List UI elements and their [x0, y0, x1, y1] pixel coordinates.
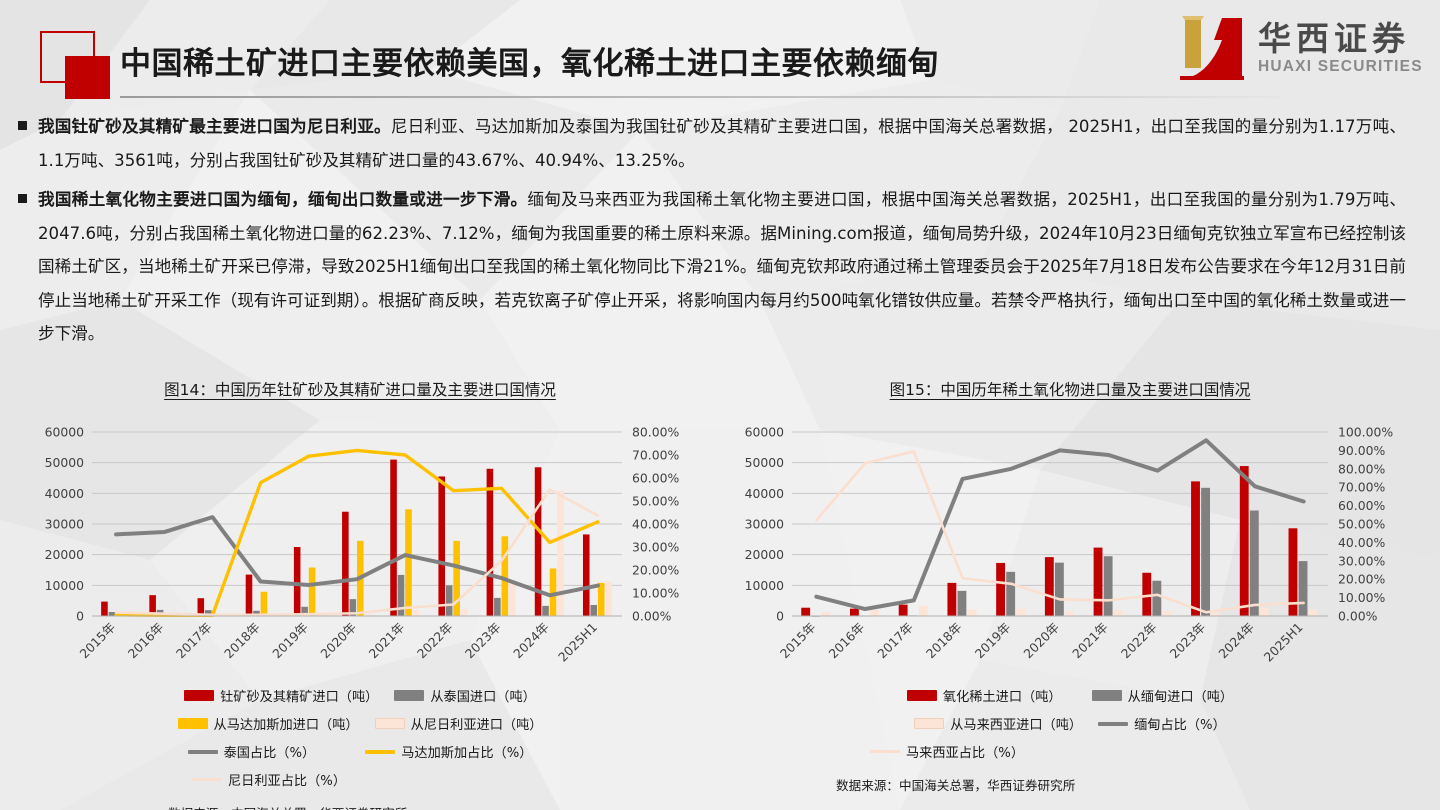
y2-axis-tick-label: 60.00%	[1338, 498, 1385, 513]
legend-item: 马达加斯加占比（%）	[365, 742, 532, 761]
y-axis-tick-label: 10000	[45, 578, 85, 593]
chart-bar	[605, 581, 612, 616]
chart-bar	[246, 575, 253, 616]
chart-bar	[557, 491, 564, 616]
chart-bar	[509, 581, 516, 616]
y2-axis-tick-label: 0.00%	[1338, 609, 1378, 624]
legend-swatch	[365, 750, 395, 754]
x-axis-tick-label: 2020年	[1020, 620, 1062, 662]
chart-bar	[919, 606, 928, 616]
bullet-marker-icon	[18, 121, 27, 130]
x-axis-tick-label: 2016年	[125, 620, 167, 662]
legend-label: 从尼日利亚进口（吨）	[411, 714, 543, 733]
bullet-lead: 我国钍矿砂及其精矿最主要进口国为尼日利亚。	[38, 117, 391, 136]
figure-title: 图14：中国历年钍矿砂及其精矿进口量及主要进口国情况	[20, 378, 700, 400]
legend-label: 马来西亚占比（%）	[906, 742, 1024, 761]
chart-bar	[438, 476, 445, 616]
x-axis-tick-label: 2024年	[1215, 620, 1257, 662]
y2-axis-tick-label: 40.00%	[1338, 535, 1385, 550]
chart-bar	[590, 605, 597, 616]
chart-bar	[899, 605, 908, 616]
chart-bar	[1142, 573, 1151, 616]
y-axis-tick-label: 40000	[45, 486, 85, 501]
x-axis-tick-label: 2021年	[366, 620, 408, 662]
y-axis-tick-label: 30000	[745, 517, 785, 532]
chart-bar	[494, 598, 501, 616]
chart-bar	[996, 563, 1005, 616]
legend-item: 从泰国进口（吨）	[394, 686, 536, 705]
legend-item: 泰国占比（%）	[188, 742, 316, 761]
y2-axis-tick-label: 20.00%	[632, 563, 679, 578]
legend-item: 从缅甸进口（吨）	[1092, 686, 1234, 705]
y-axis-tick-label: 0	[776, 609, 784, 624]
chart-bar	[309, 568, 316, 616]
legend-label: 从马来西亚进口（吨）	[950, 714, 1082, 733]
figure-title: 图15：中国历年稀土氧化物进口量及主要进口国情况	[720, 378, 1420, 400]
chart-bar	[1006, 572, 1015, 616]
y2-axis-tick-label: 80.00%	[632, 425, 679, 440]
bullet-item: 我国钍矿砂及其精矿最主要进口国为尼日利亚。尼日利亚、马达加斯加及泰国为我国钍矿砂…	[0, 110, 1440, 177]
x-axis-tick-label: 2018年	[221, 620, 263, 662]
x-axis-tick-label: 2018年	[923, 620, 965, 662]
chart-bar	[850, 609, 859, 616]
y-axis-tick-label: 20000	[745, 547, 785, 562]
legend-item: 氧化稀土进口（吨）	[907, 686, 1062, 705]
legend-label: 泰国占比（%）	[224, 742, 316, 761]
legend-item: 从马达加斯加进口（吨）	[178, 714, 359, 733]
legend-label: 钍矿砂及其精矿进口（吨）	[220, 686, 378, 705]
chart-bar	[405, 509, 412, 616]
logo-chinese-name: 华西证券	[1258, 12, 1410, 60]
title-divider	[120, 96, 1280, 98]
chart-bar	[502, 536, 509, 616]
y-axis-tick-label: 10000	[745, 578, 785, 593]
chart-bar	[1045, 557, 1054, 616]
y-axis-tick-label: 0	[76, 609, 84, 624]
chart-bar	[968, 610, 977, 616]
y2-axis-tick-label: 10.00%	[1338, 590, 1385, 605]
x-axis-tick-label: 2022年	[414, 620, 456, 662]
y2-axis-tick-label: 90.00%	[1338, 443, 1385, 458]
x-axis-tick-label: 2015年	[77, 620, 119, 662]
x-axis-tick-label: 2025H1	[1261, 620, 1306, 665]
chart-bar	[583, 534, 590, 616]
chart-bar	[413, 610, 420, 616]
chart-bar	[1152, 581, 1161, 616]
chart-bar	[261, 592, 268, 616]
chart-bar	[1250, 511, 1259, 616]
chart-plot-area-fig15: 01000020000300004000050000600000.00%10.0…	[720, 424, 1420, 644]
bullet-item: 我国稀土氧化物主要进口国为缅甸，缅甸出口数量或进一步下滑。缅甸及马来西亚为我国稀…	[0, 183, 1440, 351]
decor-square-solid	[65, 56, 110, 99]
y-axis-tick-label: 40000	[745, 486, 785, 501]
y-axis-tick-label: 30000	[45, 517, 85, 532]
chart-bar	[1201, 488, 1210, 616]
y2-axis-tick-label: 100.00%	[1338, 425, 1393, 440]
y2-axis-tick-label: 30.00%	[632, 540, 679, 555]
legend-swatch	[907, 690, 937, 701]
logo-english-name: HUAXI SECURITIES	[1258, 58, 1423, 76]
chart-bar	[1191, 481, 1200, 616]
y2-axis-tick-label: 40.00%	[632, 517, 679, 532]
chart-bar	[1260, 607, 1269, 616]
legend-item: 从尼日利亚进口（吨）	[375, 714, 543, 733]
chart-source-note: 数据来源：中国海关总署，华西证券研究所	[720, 775, 1420, 794]
chart-bar	[821, 612, 830, 616]
x-axis-tick-label: 2024年	[510, 620, 552, 662]
x-axis-tick-label: 2017年	[874, 620, 916, 662]
x-axis-tick-label: 2019年	[269, 620, 311, 662]
y-axis-tick-label: 60000	[745, 425, 785, 440]
legend-swatch	[914, 718, 944, 729]
huaxi-logo-icon	[1174, 10, 1250, 84]
company-logo: 华西证券 HUAXI SECURITIES	[1174, 6, 1432, 90]
legend-swatch	[192, 778, 222, 781]
legend-item: 钍矿砂及其精矿进口（吨）	[184, 686, 378, 705]
y2-axis-tick-label: 80.00%	[1338, 461, 1385, 476]
page-title: 中国稀土矿进口主要依赖美国，氧化稀土进口主要依赖缅甸	[120, 38, 939, 83]
chart-source-note: 数据来源：中国海关总署，华西证券研究所	[20, 803, 700, 810]
legend-label: 缅甸占比（%）	[1134, 714, 1226, 733]
chart-legend-fig14: 钍矿砂及其精矿进口（吨） 从泰国进口（吨） 从马达加斯加进口（吨） 从尼日利亚进…	[20, 686, 700, 789]
y2-axis-tick-label: 20.00%	[1338, 572, 1385, 587]
legend-swatch	[394, 690, 424, 701]
x-axis-tick-label: 2016年	[826, 620, 868, 662]
y2-axis-tick-label: 60.00%	[632, 471, 679, 486]
x-axis-tick-label: 2020年	[317, 620, 359, 662]
y2-axis-tick-label: 30.00%	[1338, 553, 1385, 568]
body-content: 我国钍矿砂及其精矿最主要进口国为尼日利亚。尼日利亚、马达加斯加及泰国为我国钍矿砂…	[0, 110, 1440, 357]
legend-swatch	[184, 690, 214, 701]
x-axis-tick-label: 2017年	[173, 620, 215, 662]
chart-bar	[487, 469, 494, 616]
slide-header: 中国稀土矿进口主要依赖美国，氧化稀土进口主要依赖缅甸 华西证券 HUAXI SE…	[0, 0, 1440, 104]
chart-bar	[1114, 610, 1123, 616]
y-axis-tick-label: 50000	[745, 455, 785, 470]
chart-bar	[1065, 611, 1074, 616]
legend-item: 马来西亚占比（%）	[870, 742, 1024, 761]
chart-bar	[1104, 556, 1113, 616]
legend-label: 氧化稀土进口（吨）	[943, 686, 1062, 705]
y2-axis-tick-label: 50.00%	[1338, 517, 1385, 532]
x-axis-tick-label: 2019年	[972, 620, 1014, 662]
legend-label: 尼日利亚占比（%）	[228, 770, 346, 789]
chart-bar	[1094, 548, 1103, 616]
bullet-lead: 我国稀土氧化物主要进口国为缅甸，缅甸出口数量或进一步下滑。	[38, 190, 527, 209]
legend-label: 从缅甸进口（吨）	[1128, 686, 1234, 705]
y-axis-tick-label: 60000	[45, 425, 85, 440]
chart-bar	[1016, 609, 1025, 616]
y-axis-tick-label: 20000	[45, 547, 85, 562]
chart-bar	[294, 547, 301, 616]
chart-bar	[109, 612, 116, 616]
x-axis-tick-label: 2023年	[1167, 620, 1209, 662]
chart-bar	[1240, 466, 1249, 616]
x-axis-tick-label: 2015年	[777, 620, 819, 662]
chart-bar	[801, 608, 810, 616]
chart-plot-area-fig14: 01000020000300004000050000600000.00%10.0…	[20, 424, 700, 644]
legend-item: 尼日利亚占比（%）	[192, 770, 346, 789]
legend-label: 从马达加斯加进口（吨）	[214, 714, 359, 733]
legend-swatch	[375, 718, 405, 729]
chart-bar	[1162, 611, 1171, 616]
bullet-marker-icon	[18, 194, 27, 203]
chart-bar	[342, 512, 349, 616]
y-axis-tick-label: 50000	[45, 455, 85, 470]
y2-axis-tick-label: 50.00%	[632, 494, 679, 509]
chart-bar	[947, 583, 956, 616]
chart-bar	[446, 585, 453, 616]
x-axis-tick-label: 2025H1	[555, 620, 600, 665]
chart-bar	[390, 460, 397, 616]
x-axis-tick-label: 2022年	[1118, 620, 1160, 662]
chart-panel-fig15: 图15：中国历年稀土氧化物进口量及主要进口国情况 010000200003000…	[720, 378, 1420, 798]
y2-axis-tick-label: 70.00%	[632, 448, 679, 463]
legend-swatch	[1098, 722, 1128, 726]
legend-swatch	[870, 750, 900, 753]
chart-legend-fig15: 氧化稀土进口（吨） 从缅甸进口（吨） 从马来西亚进口（吨） 缅甸占比（%） 马来…	[720, 686, 1420, 761]
chart-bar	[958, 591, 967, 616]
chart-panel-fig14: 图14：中国历年钍矿砂及其精矿进口量及主要进口国情况 0100002000030…	[20, 378, 700, 798]
y2-axis-tick-label: 0.00%	[632, 609, 672, 624]
legend-item: 缅甸占比（%）	[1098, 714, 1226, 733]
chart-bar	[101, 602, 108, 616]
chart-bar	[598, 583, 605, 616]
y2-axis-tick-label: 70.00%	[1338, 480, 1385, 495]
legend-swatch	[188, 750, 218, 754]
legend-label: 从泰国进口（吨）	[430, 686, 536, 705]
legend-swatch	[178, 718, 208, 729]
chart-bar	[1055, 563, 1064, 616]
legend-item: 从马来西亚进口（吨）	[914, 714, 1082, 733]
chart-bar	[1299, 561, 1308, 616]
y2-axis-tick-label: 10.00%	[632, 586, 679, 601]
bullet-body: 缅甸及马来西亚为我国稀土氧化物主要进口国，根据中国海关总署数据，2025H1，出…	[38, 190, 1406, 343]
x-axis-tick-label: 2023年	[462, 620, 504, 662]
chart-bar	[870, 610, 879, 616]
legend-label: 马达加斯加占比（%）	[401, 742, 532, 761]
chart-bar	[542, 606, 549, 616]
legend-swatch	[1092, 690, 1122, 701]
chart-bar	[1309, 610, 1318, 616]
chart-bar	[461, 609, 468, 616]
x-axis-tick-label: 2021年	[1069, 620, 1111, 662]
